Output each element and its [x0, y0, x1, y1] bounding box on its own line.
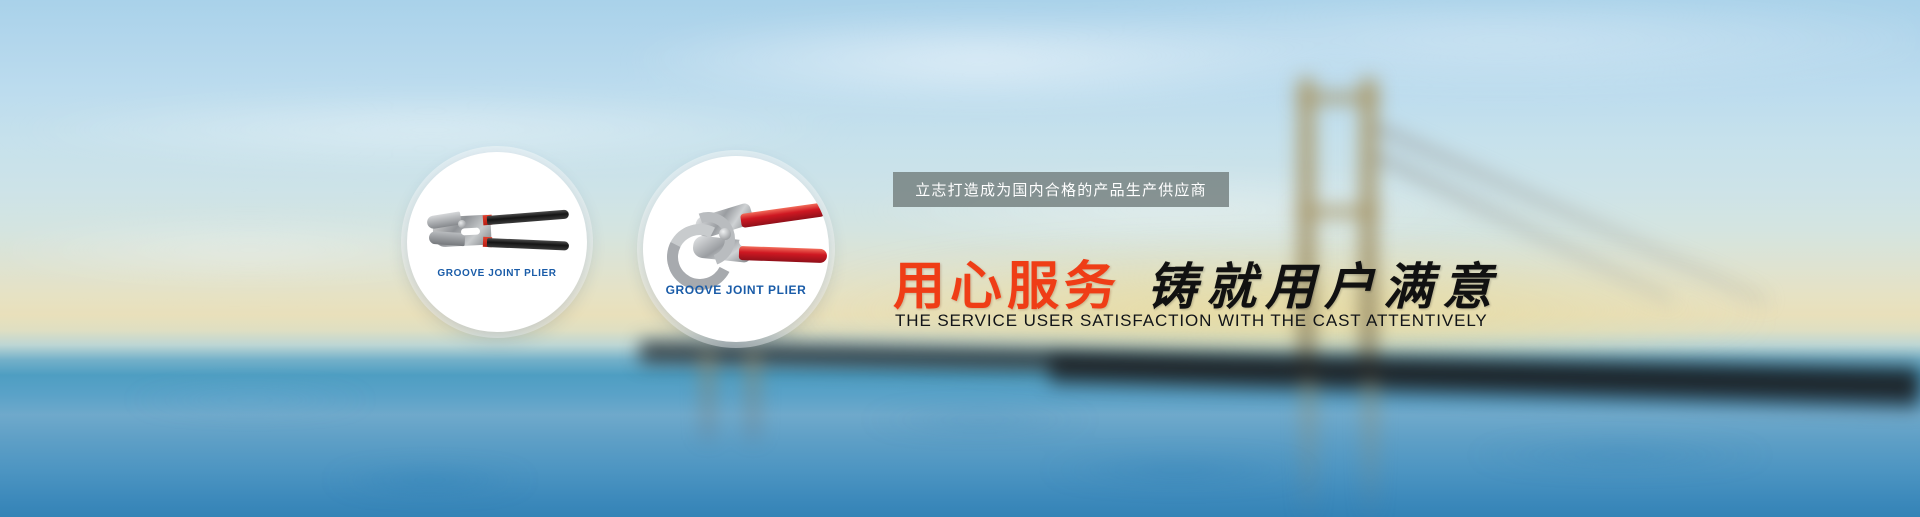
groove-joint-plier-black-icon	[425, 202, 575, 266]
water-ripples	[0, 360, 1920, 517]
product-label-1: GROOVE JOINT PLIER	[407, 268, 587, 279]
bridge-crossbeam-lower	[1296, 206, 1380, 218]
tagline-bar: 立志打造成为国内合格的产品生产供应商	[893, 172, 1229, 207]
product-label-2: GROOVE JOINT PLIER	[643, 283, 829, 297]
bridge-tower-left	[1298, 78, 1315, 378]
tagline-text: 立志打造成为国内合格的产品生产供应商	[915, 179, 1207, 200]
bridge-tower-right	[1360, 78, 1377, 378]
product-circle-1[interactable]: GROOVE JOINT PLIER	[407, 152, 587, 332]
groove-joint-plier-red-icon	[665, 202, 825, 282]
bridge-crossbeam-upper	[1296, 92, 1380, 104]
headline-secondary: 铸就用户满意	[1147, 247, 1501, 319]
headline-subtitle: THE SERVICE USER SATISFACTION WITH THE C…	[895, 311, 1488, 331]
promo-banner: GROOVE JOINT PLIER GROOVE JOINT PLIER 立志…	[0, 0, 1920, 517]
product-circle-2[interactable]: GROOVE JOINT PLIER	[643, 156, 829, 342]
headline: 用心服务 铸就用户满意	[893, 244, 1501, 319]
headline-primary: 用心服务	[893, 244, 1121, 319]
